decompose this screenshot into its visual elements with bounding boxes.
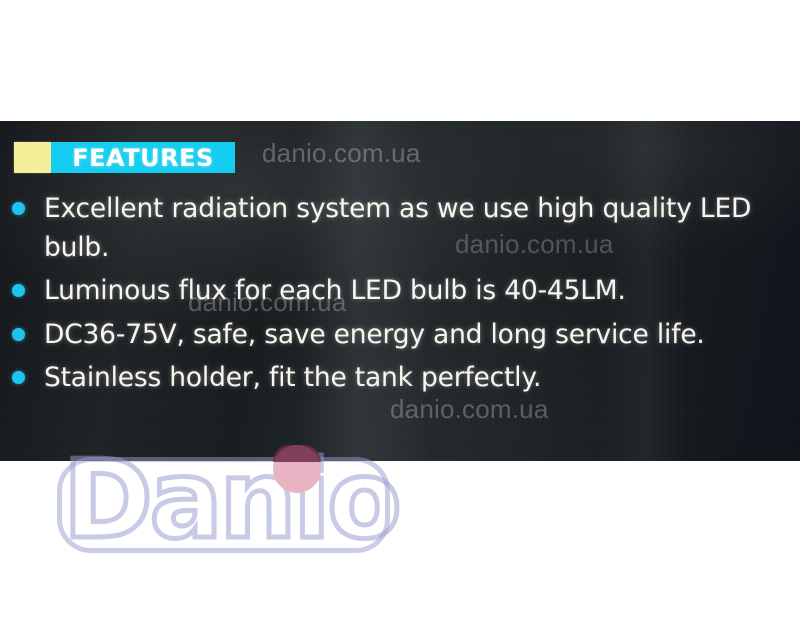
list-item-text: Stainless holder, fit the tank perfectly… (44, 358, 796, 397)
logo-rounded-frame (57, 457, 390, 553)
features-yellow-swatch (14, 142, 51, 173)
list-item: Excellent radiation system as we use hig… (0, 189, 800, 267)
list-item-text: DC36-75V, safe, save energy and long ser… (44, 315, 796, 354)
bullet-dot-icon (12, 328, 25, 341)
features-bullet-list: Excellent radiation system as we use hig… (0, 189, 800, 401)
list-item-text: Excellent radiation system as we use hig… (44, 189, 796, 267)
bullet-dot-icon (12, 371, 25, 384)
site-watermark: danio.com.ua (262, 138, 421, 169)
bullet-dot-icon (12, 284, 25, 297)
logo-wordmark: Danio (63, 447, 399, 555)
list-item-text: Luminous flux for each LED bulb is 40-45… (44, 271, 796, 310)
list-item: Luminous flux for each LED bulb is 40-45… (0, 271, 800, 310)
list-item: Stainless holder, fit the tank perfectly… (0, 358, 800, 397)
page-root: FEATURES Excellent radiation system as w… (0, 0, 800, 621)
features-banner: FEATURES (51, 142, 235, 173)
features-heading: FEATURES (14, 142, 235, 173)
bullet-dot-icon (12, 202, 25, 215)
danio-logo-watermark: Danio (57, 453, 402, 563)
features-banner-label: FEATURES (72, 146, 214, 170)
product-feature-photo: FEATURES Excellent radiation system as w… (0, 121, 800, 461)
list-item: DC36-75V, safe, save energy and long ser… (0, 315, 800, 354)
